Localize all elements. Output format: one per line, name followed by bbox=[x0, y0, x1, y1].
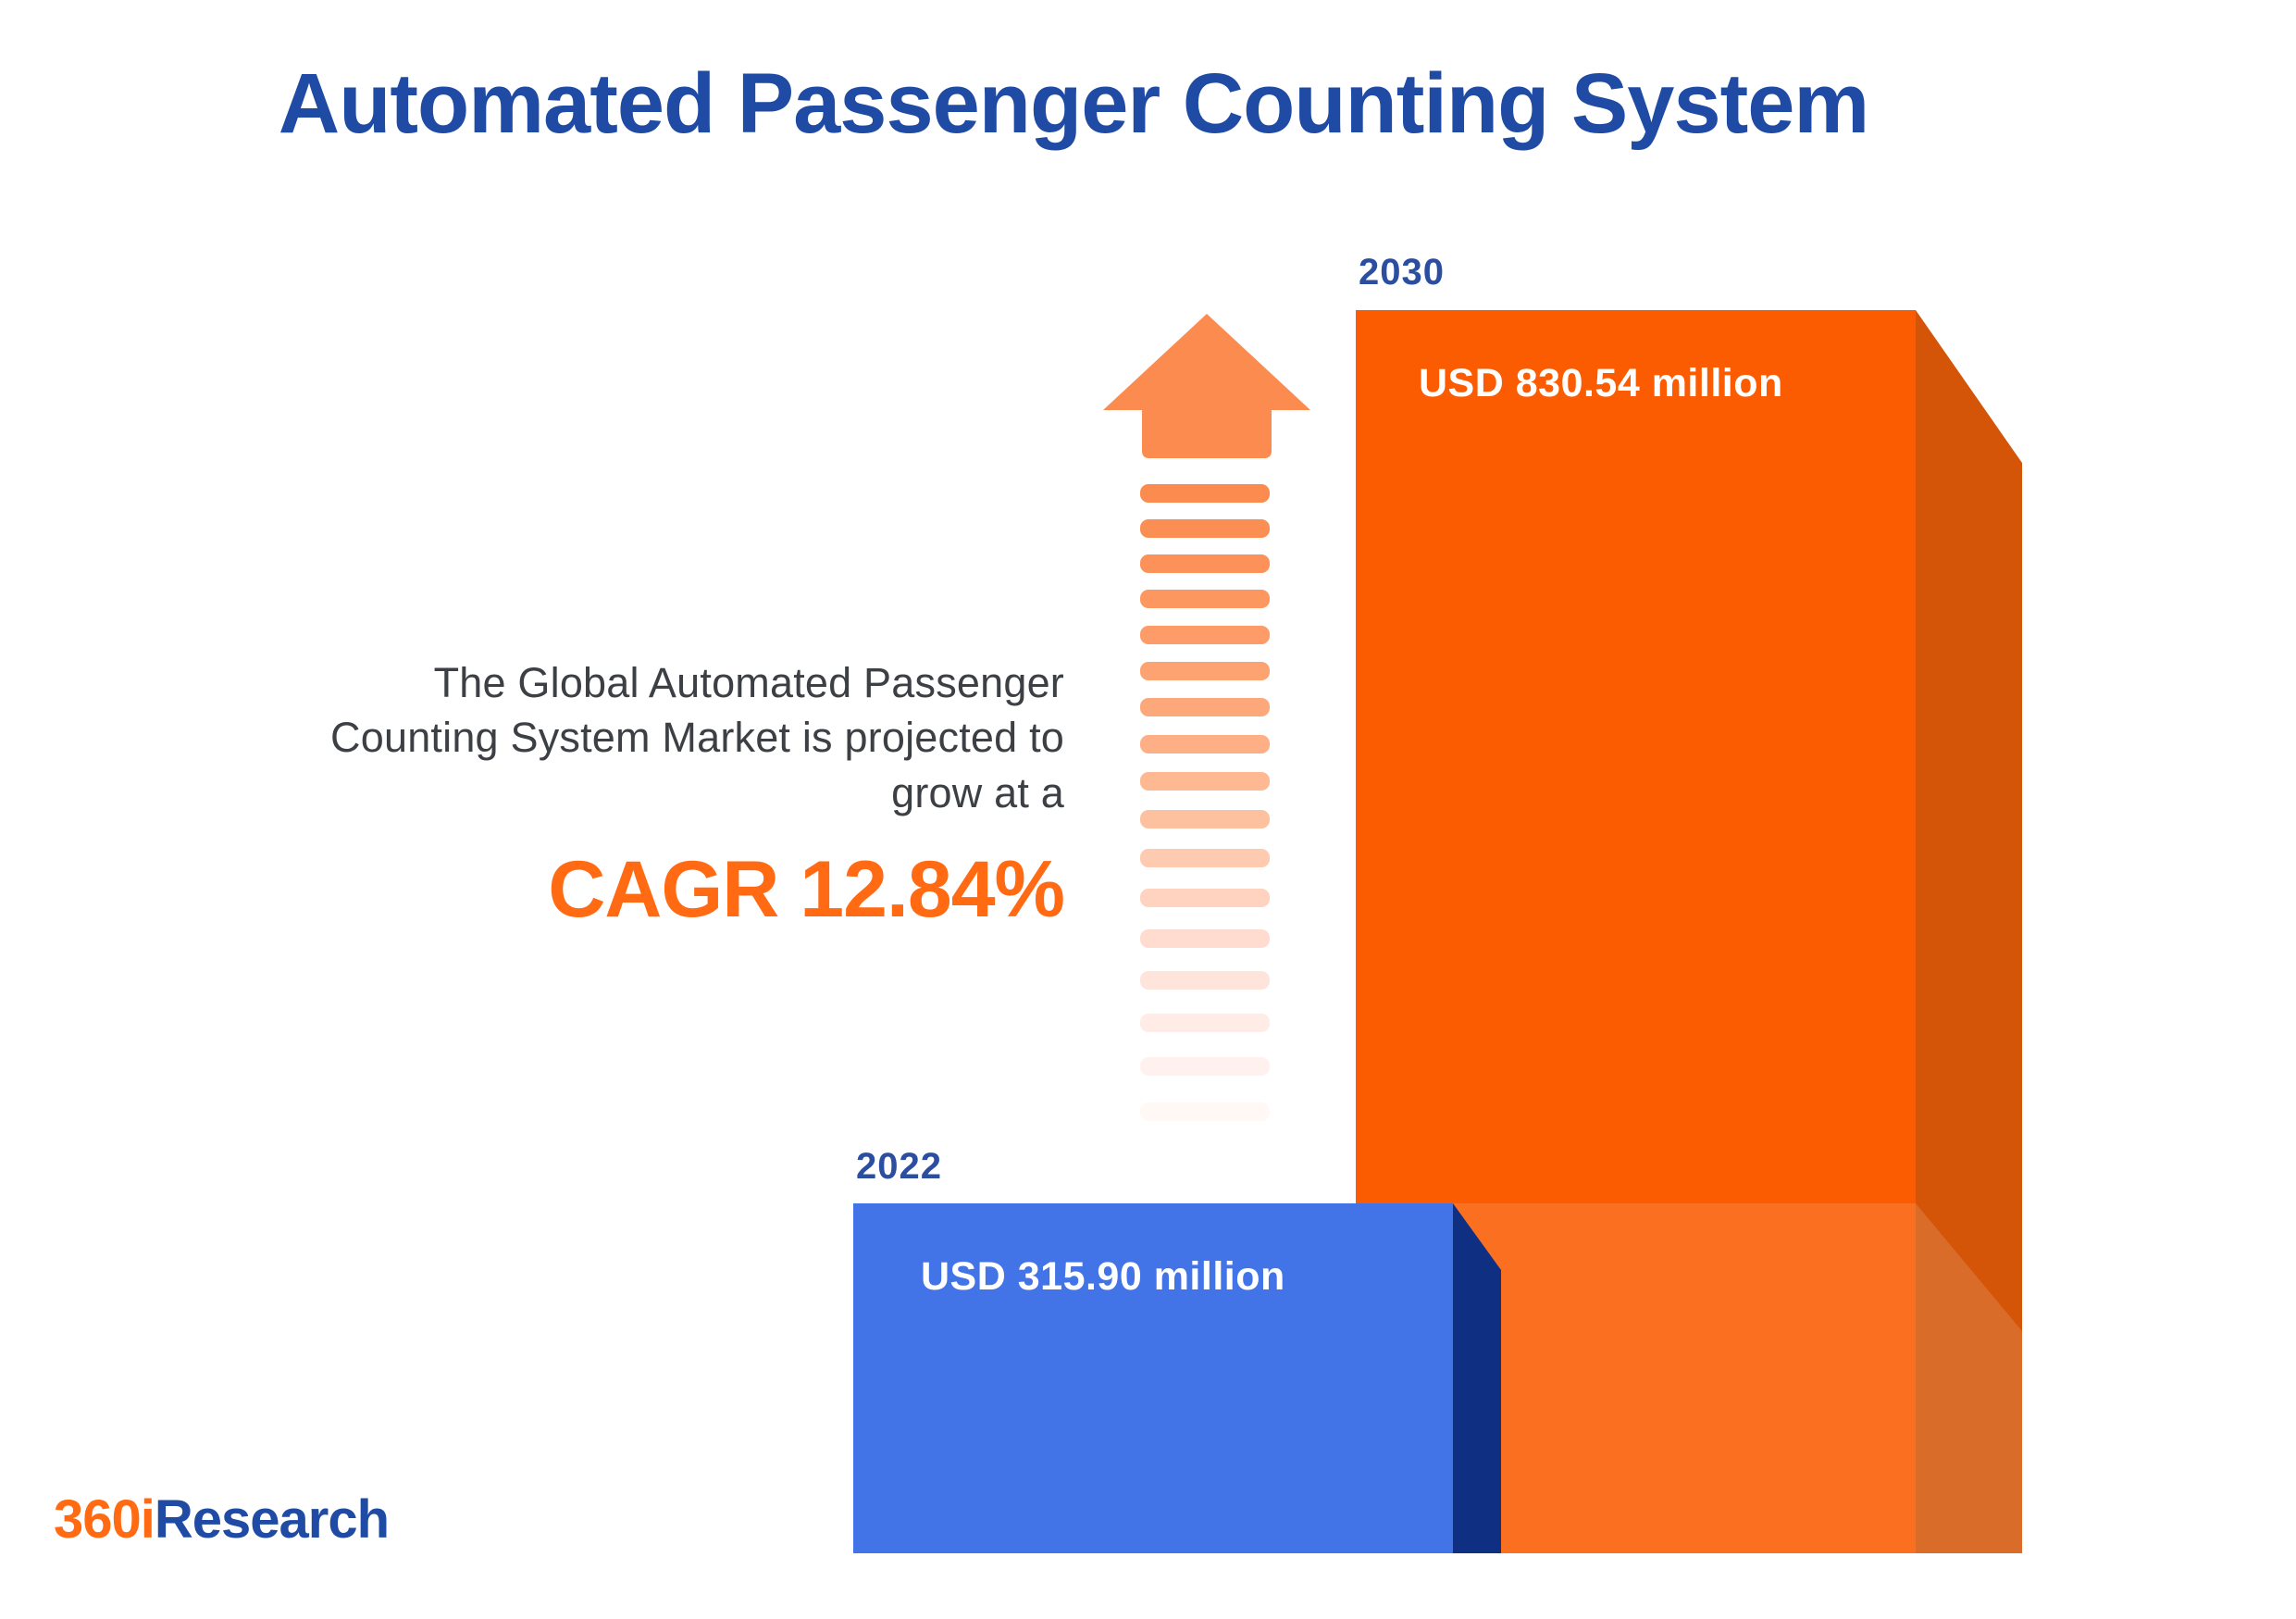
infographic-canvas: Automated Passenger Counting System The … bbox=[0, 0, 2296, 1619]
arrow-dash-17 bbox=[1140, 1102, 1270, 1121]
logo-prefix: 360i bbox=[54, 1489, 155, 1550]
arrow-dash-12 bbox=[1140, 889, 1270, 907]
bar-2030-value-label: USD 830.54 million bbox=[1419, 361, 1783, 406]
arrow-dash-9 bbox=[1140, 772, 1270, 791]
bar-2022-year-label: 2022 bbox=[856, 1146, 942, 1188]
arrow-dash-2 bbox=[1140, 519, 1270, 538]
arrow-dash-3 bbox=[1140, 554, 1270, 573]
arrow-dash-7 bbox=[1140, 698, 1270, 716]
arrow-dash-4 bbox=[1140, 590, 1270, 608]
arrow-dash-1 bbox=[1140, 484, 1270, 503]
arrow-dash-5 bbox=[1140, 626, 1270, 644]
arrow-dash-6 bbox=[1140, 662, 1270, 680]
arrow-dash-15 bbox=[1140, 1014, 1270, 1032]
arrow-dash-16 bbox=[1140, 1057, 1270, 1076]
brand-logo[interactable]: 360iResearch bbox=[54, 1488, 389, 1551]
arrow-head-icon bbox=[1098, 310, 1312, 467]
bar-2030-year-label: 2030 bbox=[1359, 252, 1445, 293]
arrow-dash-8 bbox=[1140, 735, 1270, 753]
arrow-dash-13 bbox=[1140, 929, 1270, 948]
logo-suffix: Research bbox=[155, 1489, 389, 1550]
arrow-dash-11 bbox=[1140, 849, 1270, 867]
up-arrow-icon bbox=[1098, 310, 1312, 1143]
arrow-dash-14 bbox=[1140, 971, 1270, 990]
arrow-dash-10 bbox=[1140, 810, 1270, 828]
bar-2022-value-label: USD 315.90 million bbox=[921, 1254, 1285, 1300]
